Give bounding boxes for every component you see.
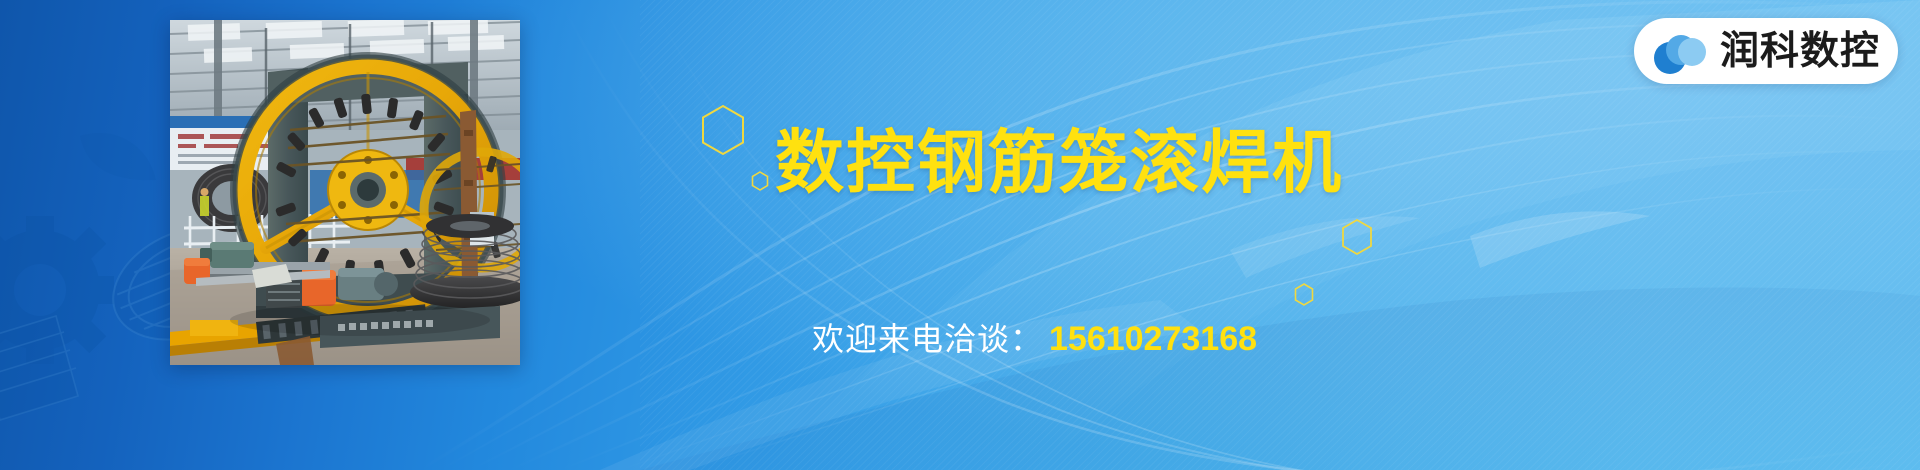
page-title: 数控钢筋笼滚焊机	[775, 128, 1343, 197]
brand-logo[interactable]: 润科数控	[1634, 18, 1898, 84]
cnc-rebar-cage-rolling-welder-photo	[170, 20, 520, 365]
contact-line: 欢迎来电洽谈：15610273168	[812, 322, 1257, 356]
contact-phone-number[interactable]: 15610273168	[1049, 320, 1257, 358]
brand-name: 润科数控	[1720, 32, 1880, 71]
contact-lead-label: 欢迎来电洽谈：	[812, 321, 1043, 357]
hexagon-small-right	[1294, 283, 1314, 306]
product-banner: 数控钢筋笼滚焊机 欢迎来电洽谈：15610273168 润科数控	[0, 0, 1920, 470]
hexagon-small-left	[751, 171, 769, 191]
hexagon-medium-right	[1340, 218, 1374, 256]
product-photo	[170, 20, 520, 365]
overlapping-circles-logo-mark-icon	[1648, 28, 1708, 74]
hexagon-large-left	[700, 104, 746, 156]
